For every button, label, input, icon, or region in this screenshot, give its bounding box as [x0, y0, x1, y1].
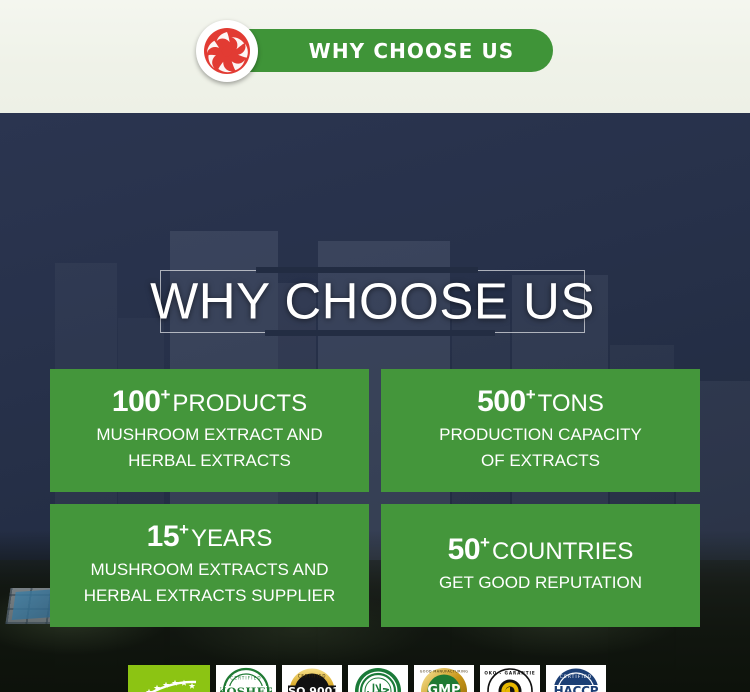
svg-text:CERTIFIED: CERTIFIED: [560, 674, 592, 680]
badge-iso-9001: ISO 9001 CERTIFIED CERTIFIED: [282, 665, 342, 692]
stats-row-2: 15+YEARS MUSHROOM EXTRACTS AND HERBAL EX…: [50, 504, 700, 627]
badge-kosher: KOSHER CERTIFIED CERTIFIED: [216, 665, 276, 692]
badge-halal: حلال HALAL: [348, 665, 408, 692]
svg-text:OKO - GARANTIE: OKO - GARANTIE: [484, 671, 535, 676]
stat-desc-line-1: GET GOOD REPUTATION: [439, 570, 642, 596]
stat-desc-line-2: HERBAL EXTRACTS SUPPLIER: [84, 583, 336, 609]
stat-card-years: 15+YEARS MUSHROOM EXTRACTS AND HERBAL EX…: [50, 504, 369, 627]
oko-garantie-bcs-icon: OKO - GARANTIE BCS: [484, 666, 536, 692]
badge-oko-garantie: OKO - GARANTIE BCS: [480, 665, 540, 692]
certification-badges: KOSHER CERTIFIED CERTIFIED: [128, 665, 606, 692]
stat-number: 500: [477, 385, 526, 418]
kosher-stamp-icon: KOSHER CERTIFIED CERTIFIED: [220, 666, 272, 692]
svg-text:ISO 9001: ISO 9001: [286, 685, 338, 692]
stat-unit: YEARS: [191, 525, 272, 552]
hero-banner: WHY CHOOSE US 100+PRODUCTS MUSHROOM EXTR…: [0, 113, 750, 692]
stat-headline: 50+COUNTRIES: [448, 533, 634, 567]
pill-label: WHY CHOOSE US: [309, 39, 515, 63]
stat-number: 50: [448, 533, 480, 566]
stat-number: 15: [147, 520, 179, 553]
hero-title-frame: WHY CHOOSE US: [160, 270, 585, 333]
stat-desc-line-1: PRODUCTION CAPACITY: [439, 422, 642, 448]
stat-headline: 100+PRODUCTS: [112, 385, 307, 419]
stat-headline: 15+YEARS: [147, 520, 273, 554]
stat-unit: TONS: [538, 390, 604, 417]
svg-text:CERTIFIED: CERTIFIED: [298, 674, 327, 679]
svg-text:حلال: حلال: [366, 682, 389, 692]
stat-desc-line-1: MUSHROOM EXTRACTS AND: [90, 557, 328, 583]
halal-green-seal-icon: حلال HALAL: [352, 666, 404, 692]
svg-text:CERTIFIED: CERTIFIED: [230, 676, 261, 681]
red-spiral-shutter-logo-icon: [200, 24, 254, 78]
stat-unit: PRODUCTS: [172, 390, 307, 417]
company-logo: [196, 20, 258, 82]
badge-eu-organic: [128, 665, 210, 692]
eu-organic-leaf-stars-icon: [130, 667, 208, 692]
stat-desc-line-2: HERBAL EXTRACTS: [128, 448, 291, 474]
stat-plus: +: [480, 533, 490, 552]
stats-grid: 100+PRODUCTS MUSHROOM EXTRACT AND HERBAL…: [50, 369, 700, 627]
stat-card-products: 100+PRODUCTS MUSHROOM EXTRACT AND HERBAL…: [50, 369, 369, 492]
iso-9001-gold-seal-icon: ISO 9001 CERTIFIED CERTIFIED: [286, 666, 338, 692]
stat-unit: COUNTRIES: [492, 538, 633, 565]
stat-plus: +: [179, 520, 189, 539]
badge-haccp: HACCP CERTIFIED FOOD SAFETY: [546, 665, 606, 692]
badge-gmp: GMP CERTIFIED GOOD MANUFACTURING PRACTIC…: [414, 665, 474, 692]
stat-card-countries: 50+COUNTRIES GET GOOD REPUTATION: [381, 504, 700, 627]
stat-number: 100: [112, 385, 161, 418]
stat-desc-line-1: MUSHROOM EXTRACT AND: [96, 422, 322, 448]
stat-plus: +: [526, 385, 536, 404]
haccp-blue-seal-icon: HACCP CERTIFIED FOOD SAFETY: [550, 666, 602, 692]
page-header: WHY CHOOSE US: [0, 0, 750, 113]
svg-text:HACCP: HACCP: [554, 684, 599, 692]
svg-text:GMP: GMP: [427, 683, 460, 692]
stat-card-tons: 500+TONS PRODUCTION CAPACITY OF EXTRACTS: [381, 369, 700, 492]
svg-text:GOOD MANUFACTURING: GOOD MANUFACTURING: [420, 670, 468, 674]
why-choose-us-pill: WHY CHOOSE US: [218, 29, 553, 72]
stats-row-1: 100+PRODUCTS MUSHROOM EXTRACT AND HERBAL…: [50, 369, 700, 492]
stat-desc-line-2: OF EXTRACTS: [481, 448, 600, 474]
title-frame-gap-bottom: [265, 330, 495, 336]
svg-text:KOSHER: KOSHER: [220, 685, 272, 692]
stat-plus: +: [160, 385, 170, 404]
page-title: WHY CHOOSE US: [150, 271, 595, 330]
stat-headline: 500+TONS: [477, 385, 604, 419]
gmp-gold-seal-icon: GMP CERTIFIED GOOD MANUFACTURING PRACTIC…: [418, 666, 470, 692]
